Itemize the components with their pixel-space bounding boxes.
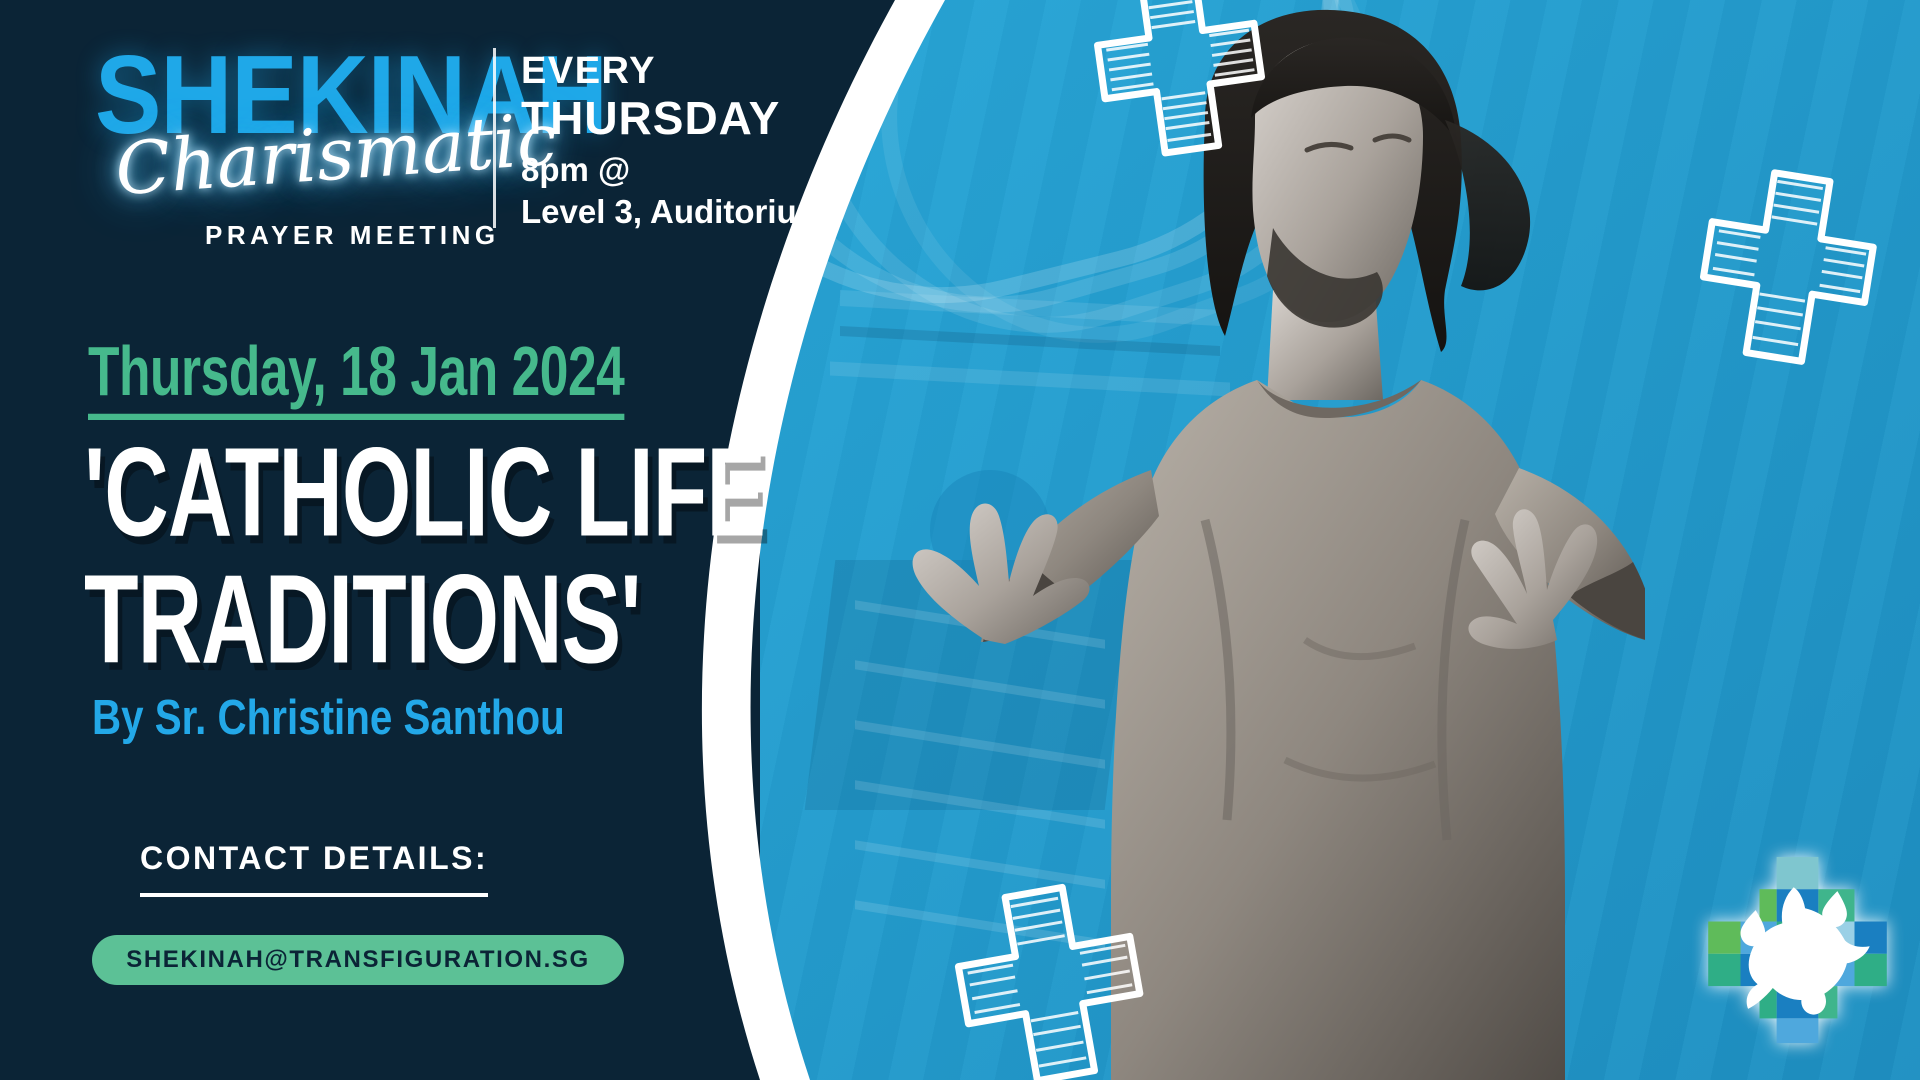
contact-details-label: CONTACT DETAILS: (140, 840, 488, 897)
vertical-divider (493, 48, 496, 228)
event-title-line-2: TRADITIONS' (84, 557, 661, 684)
contact-email-pill[interactable]: SHEKINAH@TRANSFIGURATION.SG (92, 935, 624, 985)
poster-content: SHEKINAH Charismatic PRAYER MEETING EVER… (0, 0, 880, 1080)
schedule-time: 8pm @ (521, 149, 881, 191)
schedule-day: THURSDAY (521, 93, 881, 144)
event-title-line-1: 'CATHOLIC LIFE (84, 430, 661, 557)
dove-cross-logo (1700, 855, 1895, 1045)
brand-subtitle: PRAYER MEETING (205, 220, 500, 251)
schedule-block: EVERY THURSDAY 8pm @ Level 3, Auditorium (521, 50, 881, 234)
event-speaker: By Sr. Christine Santhou (92, 690, 565, 746)
schedule-venue: Level 3, Auditorium (521, 191, 881, 233)
event-date: Thursday, 18 Jan 2024 (88, 330, 624, 420)
schedule-frequency: EVERY (521, 50, 881, 93)
event-title: 'CATHOLIC LIFE TRADITIONS' (84, 430, 661, 683)
event-poster: SHEKINAH Charismatic PRAYER MEETING EVER… (0, 0, 1920, 1080)
contact-email-text: SHEKINAH@TRANSFIGURATION.SG (126, 946, 590, 974)
